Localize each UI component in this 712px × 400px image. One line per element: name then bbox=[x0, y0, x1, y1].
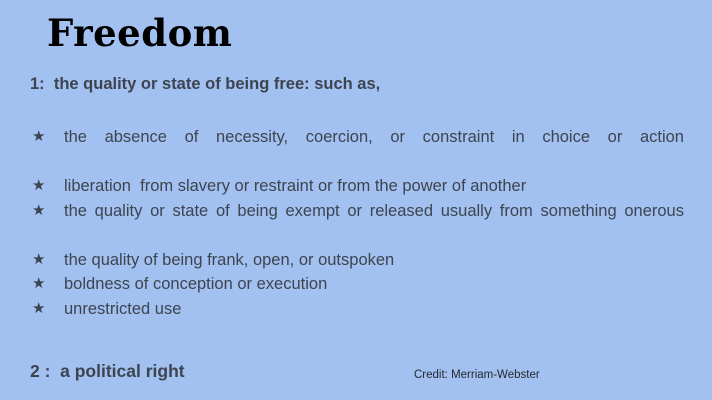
list-item-label: the quality of being frank, open, or out… bbox=[64, 248, 684, 273]
star-bullet-icon: ★ bbox=[32, 174, 45, 199]
definition-sense-1-heading: 1: the quality or state of being free: s… bbox=[30, 74, 380, 95]
definition-bullet-list: ★ the absence of necessity, coercion, or… bbox=[30, 125, 684, 321]
list-item: ★ unrestricted use bbox=[30, 297, 684, 322]
definition-slide: Freedom 1: the quality or state of being… bbox=[0, 0, 712, 400]
list-item-label: liberation from slavery or restraint or … bbox=[64, 174, 684, 199]
list-item-label: boldness of conception or execution bbox=[64, 272, 684, 297]
definition-sense-2-heading: 2 : a political right bbox=[30, 360, 185, 383]
list-item: ★ the quality of being frank, open, or o… bbox=[30, 248, 684, 273]
list-item-label: the absence of necessity, coercion, or c… bbox=[64, 125, 684, 174]
list-item-label: unrestricted use bbox=[64, 297, 684, 322]
star-bullet-icon: ★ bbox=[32, 199, 45, 224]
star-bullet-icon: ★ bbox=[32, 272, 45, 297]
list-item: ★ the quality or state of being exempt o… bbox=[30, 199, 684, 248]
list-item: ★ the absence of necessity, coercion, or… bbox=[30, 125, 684, 174]
list-item: ★ boldness of conception or execution bbox=[30, 272, 684, 297]
page-title: Freedom bbox=[47, 14, 232, 53]
star-bullet-icon: ★ bbox=[32, 125, 45, 150]
star-bullet-icon: ★ bbox=[32, 297, 45, 322]
list-item: ★ liberation from slavery or restraint o… bbox=[30, 174, 684, 199]
list-item-label: the quality or state of being exempt or … bbox=[64, 199, 684, 248]
source-credit: Credit: Merriam-Webster bbox=[414, 368, 540, 383]
star-bullet-icon: ★ bbox=[32, 248, 45, 273]
